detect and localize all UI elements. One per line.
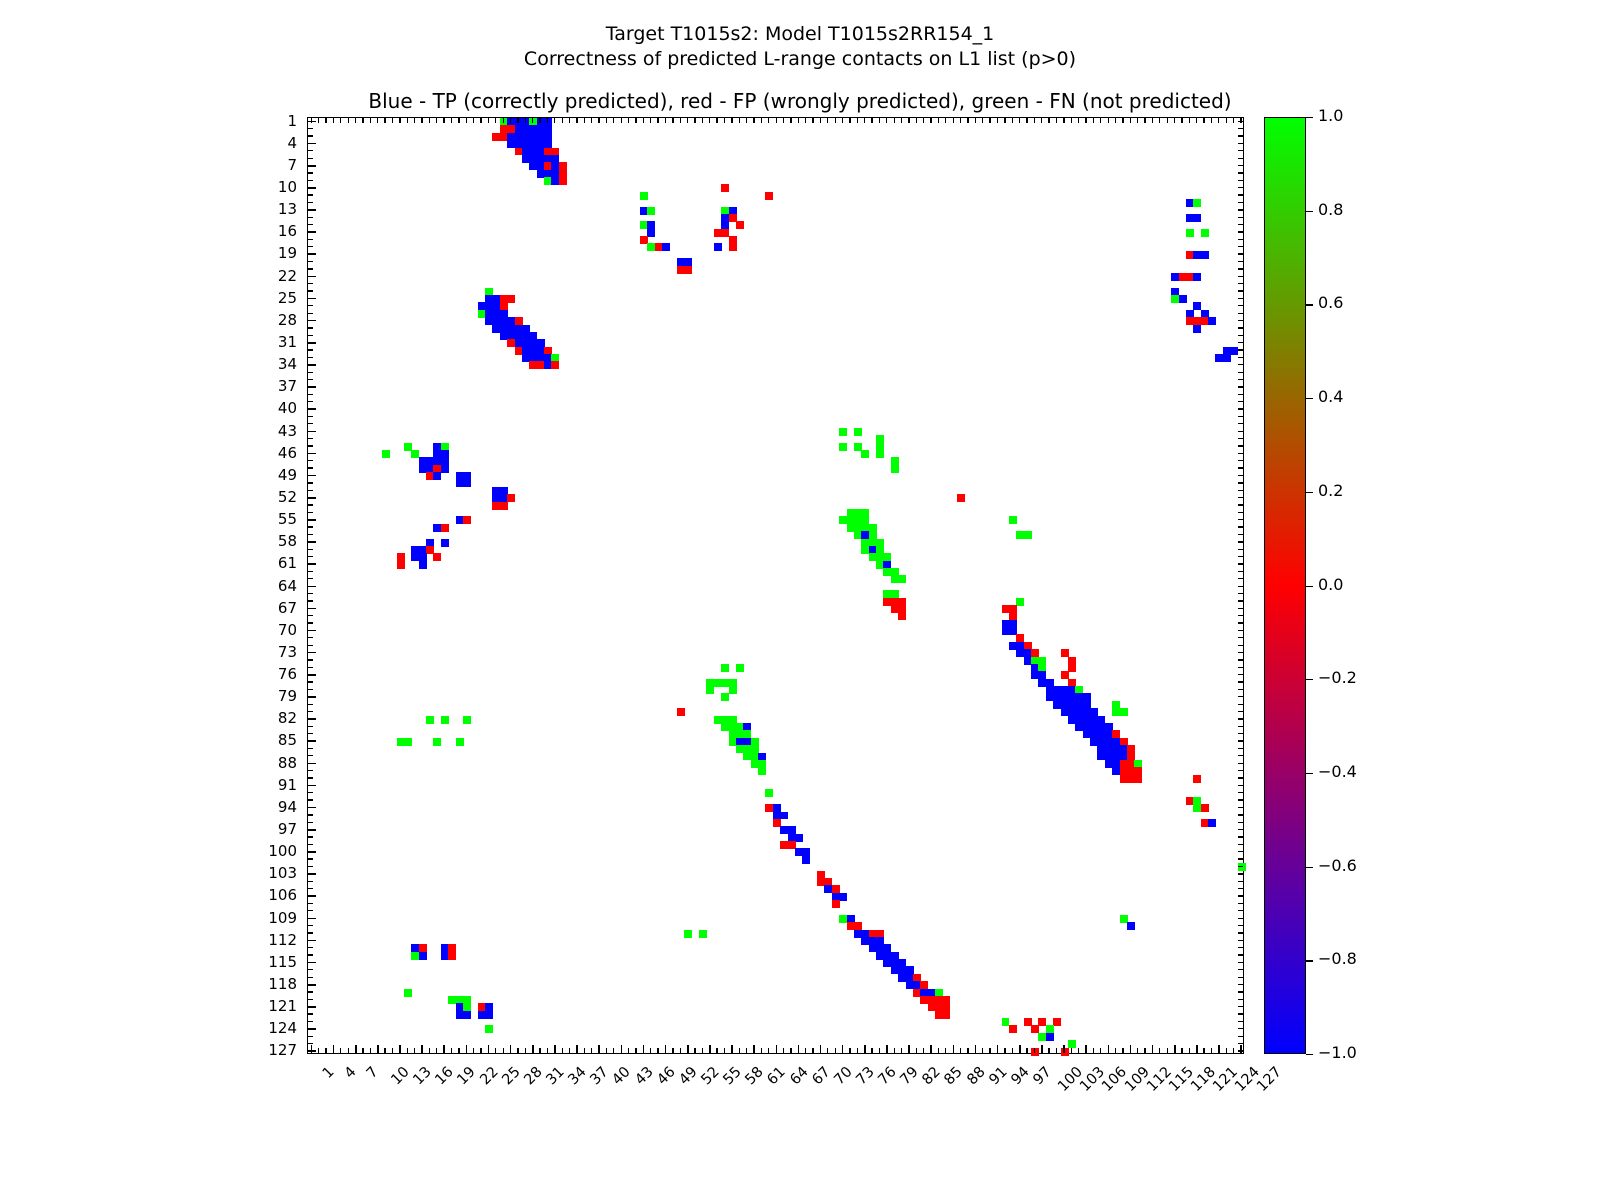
y-minor-tick-right — [1238, 202, 1243, 203]
y-major-tick — [308, 829, 316, 831]
x-minor-tick-bottom — [1056, 1048, 1057, 1053]
y-minor-tick — [308, 158, 313, 159]
y-tick-label: 49 — [245, 466, 297, 484]
x-minor-tick — [473, 118, 474, 123]
x-minor-tick — [953, 118, 954, 123]
y-minor-tick-right — [1238, 276, 1243, 277]
x-tick-label: 34 — [566, 1064, 590, 1088]
y-major-tick — [308, 807, 316, 809]
y-minor-tick-right — [1238, 991, 1243, 992]
x-minor-tick — [466, 118, 467, 123]
contact-cell — [1134, 775, 1142, 783]
contact-cell — [1208, 819, 1216, 827]
y-tick-label: 79 — [245, 687, 297, 705]
y-major-tick — [308, 940, 316, 942]
y-minor-tick — [308, 526, 313, 527]
y-major-tick — [308, 121, 316, 123]
y-minor-tick — [308, 659, 313, 660]
contact-cells-layer — [308, 118, 1243, 1053]
contact-cell — [1230, 347, 1238, 355]
y-minor-tick — [308, 910, 313, 911]
contact-cell — [802, 856, 810, 864]
y-minor-tick — [308, 313, 313, 314]
y-minor-tick-right — [1238, 497, 1243, 498]
contact-cell — [441, 524, 449, 532]
y-minor-tick — [308, 645, 313, 646]
x-minor-tick-bottom — [436, 1048, 437, 1053]
x-major-tick — [377, 1045, 379, 1053]
y-minor-tick-right — [1238, 423, 1243, 424]
y-minor-tick-right — [1238, 999, 1243, 1000]
x-minor-tick — [1108, 118, 1109, 123]
x-minor-tick — [1100, 118, 1101, 123]
y-major-tick — [308, 563, 316, 565]
x-tick-label: 25 — [499, 1064, 523, 1088]
x-minor-tick — [783, 118, 784, 123]
y-minor-tick-right — [1238, 659, 1243, 660]
x-major-tick — [776, 1045, 778, 1053]
x-minor-tick-bottom — [547, 1048, 548, 1053]
x-major-tick — [975, 1045, 977, 1053]
x-major-tick — [488, 1045, 490, 1053]
y-minor-tick-right — [1238, 1028, 1243, 1029]
y-minor-tick-right — [1238, 696, 1243, 697]
contact-cell — [647, 229, 655, 237]
x-minor-tick — [1071, 118, 1072, 123]
x-minor-tick — [849, 118, 850, 123]
contact-cell — [1223, 354, 1231, 362]
y-minor-tick-right — [1238, 733, 1243, 734]
x-minor-tick-bottom — [1034, 1048, 1035, 1053]
x-minor-tick-bottom — [613, 1048, 614, 1053]
y-major-tick — [308, 740, 316, 742]
y-minor-tick-right — [1238, 829, 1243, 830]
x-minor-tick-bottom — [1203, 1048, 1204, 1053]
y-minor-tick-right — [1238, 600, 1243, 601]
y-minor-tick-right — [1238, 401, 1243, 402]
y-minor-tick-right — [1238, 645, 1243, 646]
contact-cell — [1193, 273, 1201, 281]
x-minor-tick-bottom — [1078, 1048, 1079, 1053]
x-minor-tick-bottom — [871, 1048, 872, 1053]
x-minor-tick — [1056, 118, 1057, 123]
y-tick-label: 109 — [245, 909, 297, 927]
x-minor-tick — [1093, 118, 1094, 123]
x-major-tick — [665, 1045, 667, 1053]
y-minor-tick-right — [1238, 283, 1243, 284]
x-major-tick — [510, 1045, 512, 1053]
x-minor-tick-bottom — [938, 1048, 939, 1053]
y-major-tick — [308, 873, 316, 875]
y-minor-tick — [308, 534, 313, 535]
y-minor-tick-right — [1238, 327, 1243, 328]
y-minor-tick-right — [1238, 792, 1243, 793]
contact-cell — [1193, 199, 1201, 207]
y-tick-label: 106 — [245, 886, 297, 904]
y-minor-tick-right — [1238, 563, 1243, 564]
y-minor-tick — [308, 822, 313, 823]
x-minor-tick — [857, 118, 858, 123]
contact-cell — [1171, 295, 1179, 303]
y-minor-tick-right — [1238, 416, 1243, 417]
x-minor-tick — [1196, 118, 1197, 123]
x-minor-tick — [1233, 118, 1234, 123]
x-minor-tick-bottom — [458, 1048, 459, 1053]
x-minor-tick — [790, 118, 791, 123]
x-minor-tick — [724, 118, 725, 123]
x-minor-tick — [539, 118, 540, 123]
y-minor-tick — [308, 327, 313, 328]
contact-cell — [1193, 214, 1201, 222]
contact-cell — [729, 686, 737, 694]
x-tick-label: 70 — [831, 1064, 855, 1088]
contact-cell — [795, 834, 803, 842]
y-minor-tick-right — [1238, 150, 1243, 151]
x-minor-tick-bottom — [945, 1048, 946, 1053]
y-minor-tick-right — [1238, 512, 1243, 513]
y-minor-tick — [308, 689, 313, 690]
x-minor-tick-bottom — [1012, 1048, 1013, 1053]
y-tick-label: 127 — [245, 1041, 297, 1059]
title-line-1: Target T1015s2: Model T1015s2RR154_1 — [0, 22, 1600, 47]
x-minor-tick-bottom — [805, 1048, 806, 1053]
x-minor-tick — [989, 118, 990, 123]
y-minor-tick — [308, 954, 313, 955]
x-major-tick — [399, 1045, 401, 1053]
y-major-tick — [308, 718, 316, 720]
x-minor-tick-bottom — [503, 1048, 504, 1053]
x-minor-tick — [739, 118, 740, 123]
contact-cell — [898, 612, 906, 620]
y-minor-tick — [308, 667, 313, 668]
contact-cell — [463, 716, 471, 724]
y-minor-tick-right — [1238, 925, 1243, 926]
y-tick-label: 58 — [245, 532, 297, 550]
y-minor-tick-right — [1238, 718, 1243, 719]
contact-cell — [684, 930, 692, 938]
y-minor-tick-right — [1238, 748, 1243, 749]
x-minor-tick — [1211, 118, 1212, 123]
x-minor-tick — [923, 118, 924, 123]
x-major-tick — [820, 1045, 822, 1053]
x-minor-tick-bottom — [473, 1048, 474, 1053]
x-minor-tick — [503, 118, 504, 123]
y-minor-tick-right — [1238, 165, 1243, 166]
x-minor-tick — [584, 118, 585, 123]
x-minor-tick-bottom — [1115, 1048, 1116, 1053]
contact-cell — [404, 738, 412, 746]
contact-cell — [426, 716, 434, 724]
legend-subtitle: Blue - TP (correctly predicted), red - F… — [0, 89, 1600, 113]
x-minor-tick — [407, 118, 408, 123]
x-minor-tick — [1174, 118, 1175, 123]
x-major-tick — [709, 1045, 711, 1053]
x-minor-tick-bottom — [480, 1048, 481, 1053]
x-minor-tick — [1218, 118, 1219, 123]
x-minor-tick — [318, 118, 319, 123]
x-major-tick — [930, 1045, 932, 1053]
x-tick-label: 52 — [698, 1064, 722, 1088]
colorbar-tick-label: −0.4 — [1318, 762, 1357, 781]
y-minor-tick — [308, 349, 313, 350]
x-minor-tick-bottom — [879, 1048, 880, 1053]
x-minor-tick-bottom — [894, 1048, 895, 1053]
contact-cell — [485, 1025, 493, 1033]
x-major-tick — [443, 1045, 445, 1053]
x-minor-tick-bottom — [591, 1048, 592, 1053]
x-minor-tick-bottom — [1100, 1048, 1101, 1053]
x-minor-tick — [1012, 118, 1013, 123]
y-tick-label: 55 — [245, 510, 297, 528]
y-minor-tick-right — [1238, 977, 1243, 978]
contact-cell — [706, 686, 714, 694]
x-minor-tick-bottom — [562, 1048, 563, 1053]
contact-cell — [485, 1011, 493, 1019]
contact-cell — [765, 192, 773, 200]
x-minor-tick — [746, 118, 747, 123]
y-minor-tick-right — [1238, 637, 1243, 638]
y-minor-tick — [308, 504, 313, 505]
x-minor-tick — [1122, 118, 1123, 123]
y-tick-label: 43 — [245, 422, 297, 440]
x-major-tick — [643, 1045, 645, 1053]
y-minor-tick — [308, 947, 313, 948]
x-minor-tick — [1144, 118, 1145, 123]
y-minor-tick-right — [1238, 785, 1243, 786]
y-major-tick — [308, 364, 316, 366]
x-minor-tick — [894, 118, 895, 123]
contact-cell — [736, 664, 744, 672]
y-minor-tick — [308, 622, 313, 623]
y-tick-label: 70 — [245, 621, 297, 639]
y-minor-tick — [308, 512, 313, 513]
y-major-tick — [308, 408, 316, 410]
x-minor-tick — [1063, 118, 1064, 123]
x-minor-tick — [576, 118, 577, 123]
y-minor-tick-right — [1238, 586, 1243, 587]
y-minor-tick — [308, 401, 313, 402]
contact-cell — [839, 893, 847, 901]
y-minor-tick-right — [1238, 770, 1243, 771]
x-minor-tick — [982, 118, 983, 123]
y-minor-tick-right — [1238, 888, 1243, 889]
contact-cell — [1238, 863, 1246, 871]
y-minor-tick-right — [1238, 305, 1243, 306]
x-minor-tick — [1159, 118, 1160, 123]
y-minor-tick-right — [1238, 608, 1243, 609]
x-minor-tick — [768, 118, 769, 123]
contact-cell — [1046, 1033, 1054, 1041]
y-minor-tick — [308, 490, 313, 491]
x-minor-tick — [1078, 118, 1079, 123]
y-minor-tick — [308, 999, 313, 1000]
x-minor-tick-bottom — [451, 1048, 452, 1053]
colorbar-tick-label: 0.6 — [1318, 293, 1343, 312]
y-minor-tick — [308, 814, 313, 815]
y-major-tick — [308, 630, 316, 632]
contact-cell — [780, 812, 788, 820]
x-minor-tick — [871, 118, 872, 123]
y-tick-label: 34 — [245, 355, 297, 373]
y-tick-label: 16 — [245, 222, 297, 240]
y-minor-tick-right — [1238, 689, 1243, 690]
x-minor-tick-bottom — [768, 1048, 769, 1053]
y-minor-tick — [308, 637, 313, 638]
y-tick-label: 25 — [245, 289, 297, 307]
x-minor-tick-bottom — [370, 1048, 371, 1053]
x-minor-tick — [1048, 118, 1049, 123]
x-minor-tick-bottom — [1004, 1048, 1005, 1053]
contact-cell — [1193, 325, 1201, 333]
y-minor-tick-right — [1238, 143, 1243, 144]
contact-cell — [1179, 295, 1187, 303]
y-tick-label: 82 — [245, 709, 297, 727]
y-major-tick — [308, 453, 316, 455]
colorbar-tick — [1306, 960, 1313, 961]
x-minor-tick-bottom — [923, 1048, 924, 1053]
x-minor-tick — [458, 118, 459, 123]
y-minor-tick — [308, 180, 313, 181]
x-minor-tick-bottom — [1026, 1048, 1027, 1053]
contact-cell — [729, 243, 737, 251]
y-minor-tick-right — [1238, 386, 1243, 387]
y-minor-tick-right — [1238, 342, 1243, 343]
contact-cell — [677, 708, 685, 716]
x-tick-label: 85 — [942, 1064, 966, 1088]
x-tick-label: 73 — [853, 1064, 877, 1088]
title-line-2: Correctness of predicted L-range contact… — [0, 47, 1600, 72]
y-minor-tick — [308, 770, 313, 771]
y-tick-label: 52 — [245, 488, 297, 506]
contact-cell — [898, 575, 906, 583]
contact-cell — [876, 450, 884, 458]
x-minor-tick — [1167, 118, 1168, 123]
x-major-tick — [864, 1045, 866, 1053]
x-major-tick — [532, 1045, 534, 1053]
x-major-tick — [798, 1045, 800, 1053]
contact-cell — [758, 767, 766, 775]
y-major-tick — [308, 851, 316, 853]
y-minor-tick-right — [1238, 349, 1243, 350]
x-tick-label: 28 — [521, 1064, 545, 1088]
x-major-tick — [466, 1045, 468, 1053]
y-tick-label: 124 — [245, 1019, 297, 1037]
x-major-tick — [842, 1045, 844, 1053]
y-tick-label: 73 — [245, 643, 297, 661]
x-minor-tick — [975, 118, 976, 123]
y-tick-label: 115 — [245, 953, 297, 971]
x-minor-tick — [414, 118, 415, 123]
y-minor-tick-right — [1238, 851, 1243, 852]
x-minor-tick — [997, 118, 998, 123]
y-major-tick — [308, 276, 316, 278]
x-minor-tick — [657, 118, 658, 123]
y-major-tick — [308, 674, 316, 676]
x-minor-tick-bottom — [849, 1048, 850, 1053]
y-minor-tick-right — [1238, 881, 1243, 882]
x-tick-label: 91 — [986, 1064, 1010, 1088]
contact-cell — [441, 539, 449, 547]
x-major-tick — [908, 1045, 910, 1053]
x-minor-tick — [960, 118, 961, 123]
contact-cell — [433, 738, 441, 746]
colorbar-tick — [1306, 117, 1313, 118]
y-minor-tick-right — [1238, 431, 1243, 432]
x-major-tick — [1196, 1045, 1198, 1053]
contact-cell — [714, 243, 722, 251]
x-minor-tick — [547, 118, 548, 123]
x-minor-tick — [650, 118, 651, 123]
x-minor-tick-bottom — [790, 1048, 791, 1053]
y-minor-tick-right — [1238, 866, 1243, 867]
y-minor-tick-right — [1238, 504, 1243, 505]
y-minor-tick — [308, 733, 313, 734]
y-minor-tick — [308, 460, 313, 461]
x-tick-label: 22 — [477, 1064, 501, 1088]
y-minor-tick-right — [1238, 438, 1243, 439]
y-minor-tick — [308, 283, 313, 284]
contact-cell — [507, 295, 515, 303]
y-major-tick — [308, 608, 316, 610]
x-minor-tick — [635, 118, 636, 123]
x-minor-tick — [325, 118, 326, 123]
y-minor-tick-right — [1238, 630, 1243, 631]
x-major-tick — [576, 1045, 578, 1053]
y-minor-tick-right — [1238, 1036, 1243, 1037]
y-major-tick — [308, 1006, 316, 1008]
y-major-tick — [308, 895, 316, 897]
x-tick-label: 31 — [543, 1064, 567, 1088]
y-minor-tick — [308, 372, 313, 373]
y-minor-tick — [308, 150, 313, 151]
y-major-tick — [308, 696, 316, 698]
y-minor-tick — [308, 792, 313, 793]
y-major-tick — [308, 962, 316, 964]
x-minor-tick — [761, 118, 762, 123]
y-minor-tick-right — [1238, 445, 1243, 446]
y-minor-tick-right — [1238, 1013, 1243, 1014]
y-minor-tick-right — [1238, 158, 1243, 159]
x-major-tick — [731, 1045, 733, 1053]
x-minor-tick — [776, 118, 777, 123]
y-minor-tick-right — [1238, 549, 1243, 550]
y-minor-tick — [308, 932, 313, 933]
x-minor-tick — [901, 118, 902, 123]
x-minor-tick — [569, 118, 570, 123]
contact-map-plot — [307, 117, 1244, 1054]
y-minor-tick-right — [1238, 180, 1243, 181]
y-tick-label: 100 — [245, 842, 297, 860]
x-tick-label: 10 — [388, 1064, 412, 1088]
x-minor-tick-bottom — [606, 1048, 607, 1053]
y-minor-tick — [308, 593, 313, 594]
contact-cell — [721, 693, 729, 701]
x-minor-tick-bottom — [1144, 1048, 1145, 1053]
y-tick-label: 31 — [245, 333, 297, 351]
x-minor-tick — [716, 118, 717, 123]
y-major-tick — [308, 253, 316, 255]
y-minor-tick — [308, 991, 313, 992]
x-minor-tick-bottom — [1181, 1048, 1182, 1053]
contact-cell — [1068, 1040, 1076, 1048]
y-major-tick — [308, 785, 316, 787]
y-major-tick — [308, 298, 316, 300]
x-minor-tick-bottom — [1226, 1048, 1227, 1053]
colorbar-tick-label: 0.2 — [1318, 481, 1343, 500]
y-tick-label: 64 — [245, 577, 297, 595]
y-minor-tick — [308, 615, 313, 616]
y-minor-tick-right — [1238, 807, 1243, 808]
